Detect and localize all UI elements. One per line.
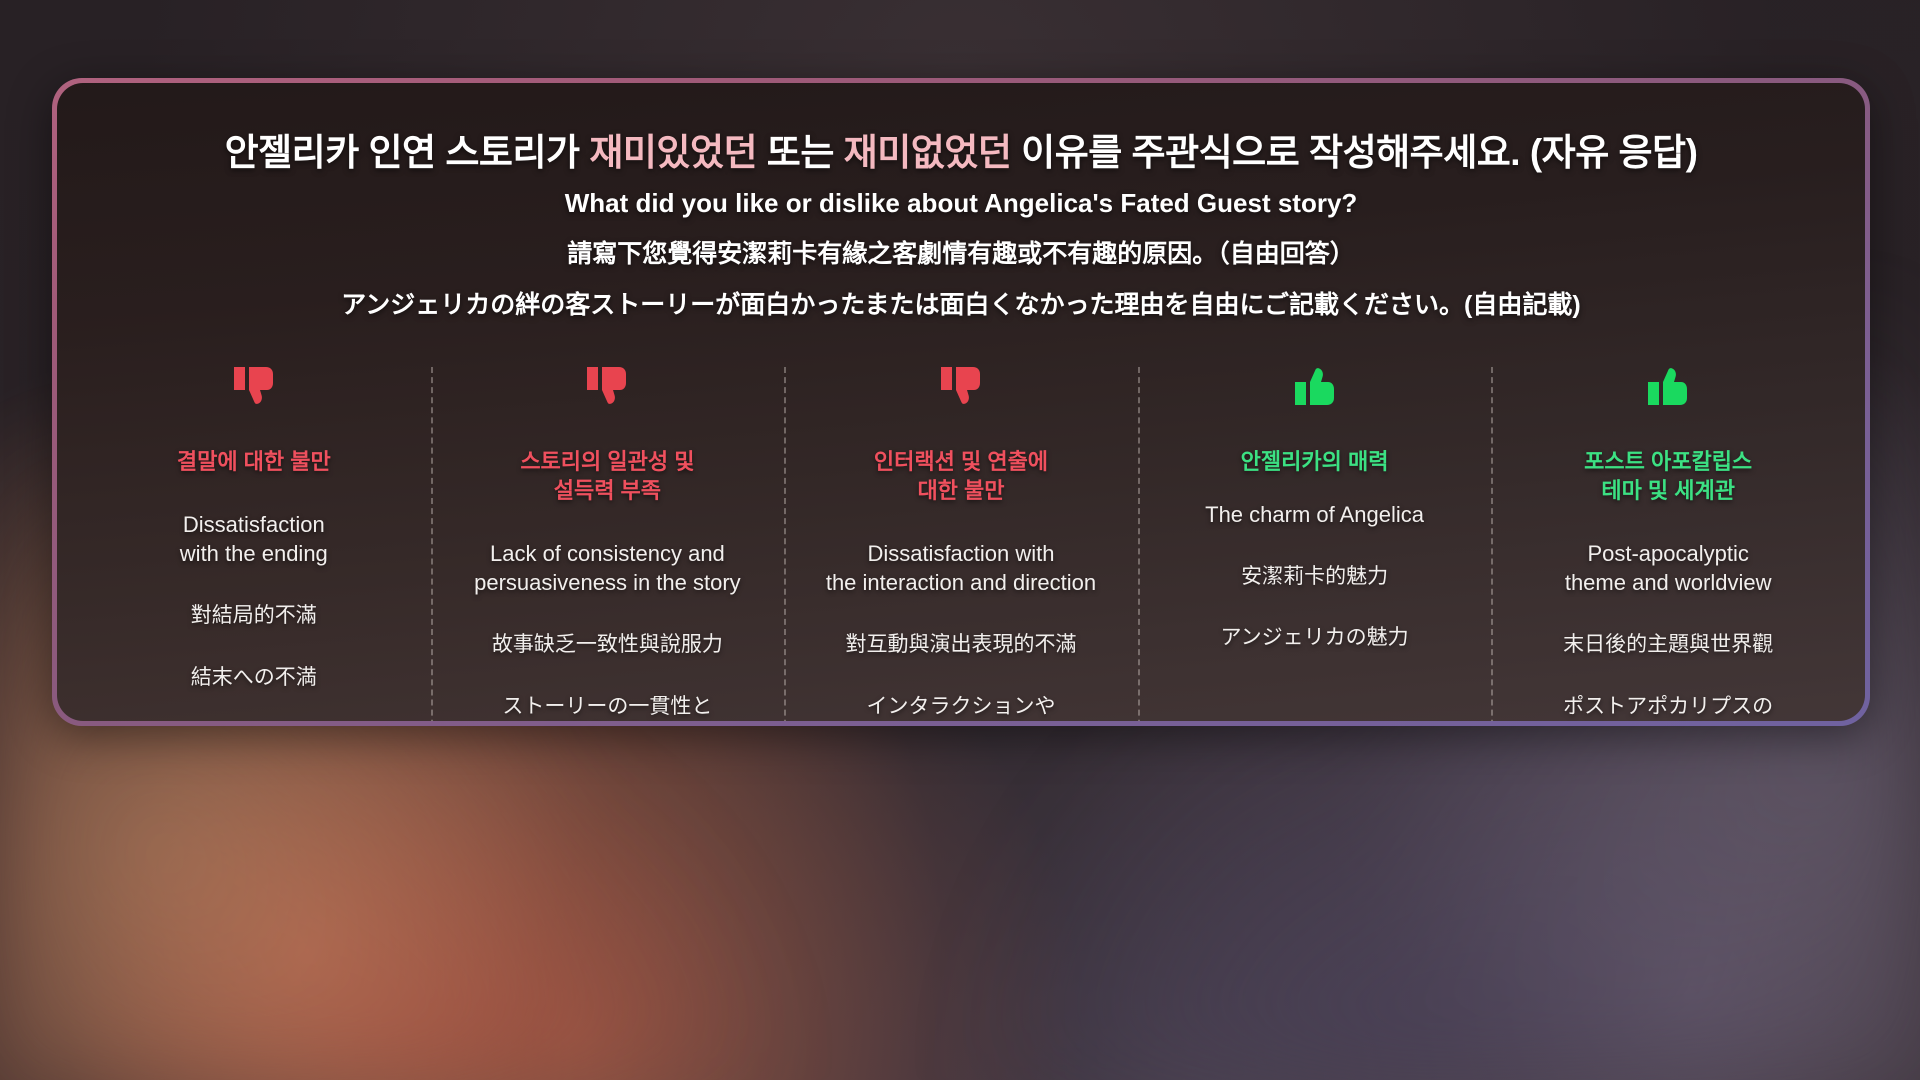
survey-result-panel: 안젤리카 인연 스토리가 재미있었던 또는 재미없었던 이유를 주관식으로 작성…: [52, 78, 1870, 726]
page-title-korean: 안젤리카 인연 스토리가 재미있었던 또는 재미없었던 이유를 주관식으로 작성…: [57, 133, 1865, 174]
category-label-chinese: 故事缺乏一致性與說服力: [441, 631, 775, 659]
category-label-japanese: アンジェリカの魅力: [1148, 624, 1482, 652]
thumbs-down-icon: [87, 363, 421, 409]
thumbs-down-icon: [794, 363, 1128, 409]
panel-inner: 안젤리카 인연 스토리가 재미있었던 또는 재미없었던 이유를 주관식으로 작성…: [57, 83, 1865, 721]
thumbs-up-icon: [1501, 363, 1835, 409]
category-column-1: 결말에 대한 불만 Dissatisfaction with the endin…: [77, 363, 431, 721]
category-label-chinese: 末日後的主題與世界觀: [1501, 631, 1835, 659]
category-label-korean: 안젤리카의 매력: [1148, 447, 1482, 476]
category-column-5: 포스트 아포칼립스 테마 및 세계관 Post-apocalyptic them…: [1491, 363, 1845, 721]
category-label-english: Post-apocalyptic theme and worldview: [1501, 539, 1835, 597]
category-label-english: The charm of Angelica: [1148, 500, 1482, 529]
category-label-english: Dissatisfaction with the ending: [87, 510, 421, 568]
category-columns: 결말에 대한 불만 Dissatisfaction with the endin…: [57, 363, 1865, 721]
category-label-korean: 포스트 아포칼립스 테마 및 세계관: [1501, 447, 1835, 505]
category-label-japanese: ポストアポカリプスの テーマと世界観: [1501, 693, 1835, 721]
page-title-japanese: アンジェリカの絆の客ストーリーが面白かったまたは面白くなかった理由を自由にご記載…: [57, 285, 1865, 321]
category-label-korean: 인터랙션 및 연출에 대한 불만: [794, 447, 1128, 505]
category-label-japanese: ストーリーの一貫性と 説得力の欠如: [441, 693, 775, 721]
page-title-chinese: 請寫下您覺得安潔莉卡有緣之客劇情有趣或不有趣的原因。（自由回答）: [57, 234, 1865, 270]
category-label-japanese: インタラクションや 演出への不満: [794, 693, 1128, 721]
title-ko-highlight-2: 재미없었던: [844, 132, 1012, 173]
title-ko-segment-1: 안젤리카 인연 스토리가: [225, 132, 590, 173]
thumbs-up-icon: [1148, 363, 1482, 409]
category-label-english: Dissatisfaction with the interaction and…: [794, 539, 1128, 597]
category-label-korean: 결말에 대한 불만: [87, 447, 421, 476]
category-label-chinese: 對互動與演出表現的不滿: [794, 631, 1128, 659]
title-ko-segment-3: 이유를 주관식으로 작성해주세요. (자유 응답): [1011, 132, 1697, 173]
category-label-japanese: 結末への不満: [87, 664, 421, 692]
category-label-korean: 스토리의 일관성 및 설득력 부족: [441, 447, 775, 505]
category-label-chinese: 對結局的不滿: [87, 602, 421, 630]
panel-header: 안젤리카 인연 스토리가 재미있었던 또는 재미없었던 이유를 주관식으로 작성…: [57, 83, 1865, 321]
category-column-2: 스토리의 일관성 및 설득력 부족 Lack of consistency an…: [431, 363, 785, 721]
title-ko-highlight-1: 재미있었던: [589, 132, 757, 173]
category-column-4: 안젤리카의 매력 The charm of Angelica 安潔莉卡的魅力 ア…: [1138, 363, 1492, 721]
category-label-english: Lack of consistency and persuasiveness i…: [441, 539, 775, 597]
category-column-3: 인터랙션 및 연출에 대한 불만 Dissatisfaction with th…: [784, 363, 1138, 721]
category-label-chinese: 安潔莉卡的魅力: [1148, 563, 1482, 591]
thumbs-down-icon: [441, 363, 775, 409]
page-title-english: What did you like or dislike about Angel…: [57, 188, 1865, 219]
title-ko-segment-2: 또는: [757, 132, 844, 173]
